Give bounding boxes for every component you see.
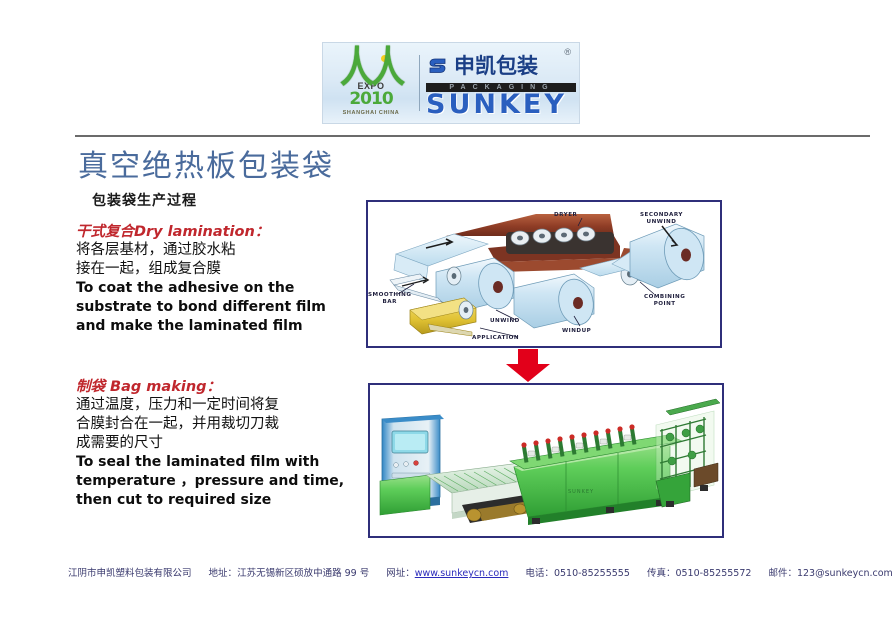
block2-cn-line-2: 合膜封合在一起，并用裁切刀裁 xyxy=(76,415,344,434)
footer-tel: 0510-85255555 xyxy=(554,568,630,579)
expo-2010-logo: 人人 EXPO 2010 SHANGHAI CHINA xyxy=(323,43,419,123)
footer-address-label: 地址： xyxy=(209,568,238,579)
block2-heading: 制袋 Bag making： xyxy=(76,375,344,396)
block1-heading: 干式复合Dry lamination： xyxy=(76,220,326,241)
block2-en-line-2: temperature ，pressure and time, xyxy=(76,472,344,491)
text-block-dry-lamination: 干式复合Dry lamination： 将各层基材，通过胶水粘 接在一起，组成复… xyxy=(76,220,326,336)
label-secondary-unwind: SECONDARY UNWIND xyxy=(640,212,683,226)
expo-glyph-icon: 人人 xyxy=(340,49,402,87)
footer-web-label: 网址： xyxy=(386,568,415,579)
expo-city: SHANGHAI CHINA xyxy=(343,110,400,116)
block2-en-line-1: To seal the laminated film with xyxy=(76,453,344,472)
label-application: APPLICATION xyxy=(472,335,519,342)
bag-making-machine-figure: SUNKEY xyxy=(368,383,724,538)
page-subtitle: 包装袋生产过程 xyxy=(92,190,197,210)
sunkey-wordmark: SUNKEY xyxy=(426,91,579,118)
block1-en-line-2: substrate to bond different film xyxy=(76,298,326,317)
title-divider-rule xyxy=(75,135,870,137)
block2-cn-line-1: 通过温度，压力和一定时间将复 xyxy=(76,396,344,415)
header-logo-band: 人人 EXPO 2010 SHANGHAI CHINA ® 申凯包装 PACKA… xyxy=(322,42,580,124)
footer-mail-label: 邮件： xyxy=(768,568,797,579)
dry-lamination-figure: DRYER SECONDARY UNWIND SMOOTHING BAR UNW… xyxy=(366,200,722,348)
sunkey-top-row: 申凯包装 xyxy=(426,49,579,83)
footer-mail: 123@sunkeycn.com xyxy=(797,568,893,579)
block1-en-line-1: To coat the adhesive on the xyxy=(76,279,326,298)
s-swirl-icon xyxy=(426,54,450,78)
bag-making-machine-drawing: SUNKEY xyxy=(370,385,722,536)
sunkey-chinese-name: 申凯包装 xyxy=(454,54,538,78)
footer-address: 江苏无锡新区硕放中通路 99 号 xyxy=(237,568,369,579)
block1-cn-line-1: 将各层基材，通过胶水粘 xyxy=(76,241,326,260)
footer-contact-line: 江阴市申凯塑料包装有限公司 地址：江苏无锡新区硕放中通路 99 号 网址：www… xyxy=(68,565,893,579)
arrow-head xyxy=(506,364,550,382)
label-combining-point: COMBINING POINT xyxy=(644,294,685,308)
registered-mark: ® xyxy=(564,47,571,57)
down-arrow-icon xyxy=(503,349,553,382)
label-dryer: DRYER xyxy=(554,212,577,219)
text-block-bag-making: 制袋 Bag making： 通过温度，压力和一定时间将复 合膜封合在一起，并用… xyxy=(76,375,344,510)
footer-fax: 0510-85255572 xyxy=(675,568,751,579)
block1-cn-line-2: 接在一起，组成复合膜 xyxy=(76,260,326,279)
block2-en-line-3: then cut to required size xyxy=(76,491,344,510)
sunkey-logo: ® 申凯包装 PACKAGING SUNKEY xyxy=(420,43,579,123)
label-windup: WINDUP xyxy=(562,328,591,335)
footer-web-link[interactable]: www.sunkeycn.com xyxy=(415,568,509,579)
footer-tel-label: 电话： xyxy=(525,568,554,579)
footer-fax-label: 传真： xyxy=(647,568,676,579)
label-smoothing-bar: SMOOTHING BAR xyxy=(368,292,411,306)
footer-company: 江阴市申凯塑料包装有限公司 xyxy=(68,568,192,579)
slide-canvas: 人人 EXPO 2010 SHANGHAI CHINA ® 申凯包装 PACKA… xyxy=(0,0,895,631)
block1-en-line-3: and make the laminated film xyxy=(76,317,326,336)
label-unwind: UNWIND xyxy=(490,318,520,325)
block2-cn-line-3: 成需要的尺寸 xyxy=(76,434,344,453)
svg-text:SUNKEY: SUNKEY xyxy=(568,489,594,495)
page-title: 真空绝热板包装袋 xyxy=(78,141,334,185)
